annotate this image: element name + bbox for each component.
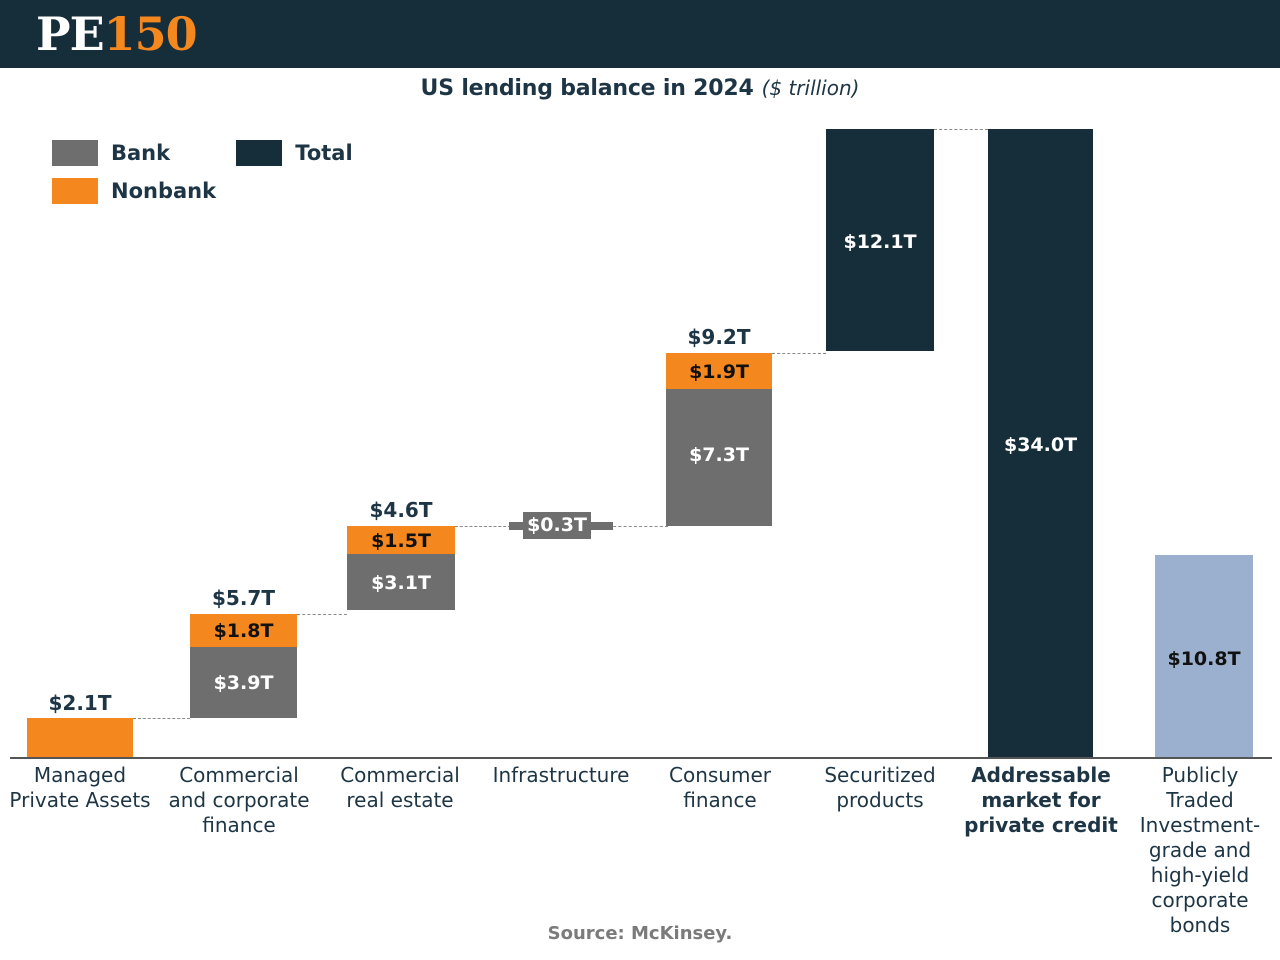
segment-total: $34.0T	[988, 129, 1093, 757]
segment-value-label-public: $10.8T	[1155, 648, 1253, 670]
x-label-line: finance	[640, 788, 800, 813]
bar-commercial-corporate-finance[interactable]: $1.8T $3.9T	[190, 614, 297, 718]
x-axis-label-securitized-products: Securitized products	[800, 763, 960, 813]
bar-total-label-commercial-real-estate: $4.6T	[347, 498, 455, 522]
bar-total-label-consumer-finance: $9.2T	[666, 325, 772, 349]
x-label-line: private credit	[961, 813, 1121, 838]
connector-2-3	[297, 614, 347, 615]
segment-bank: $7.3T	[666, 389, 772, 526]
bar-infrastructure-value-chip: $0.3T	[523, 512, 591, 539]
x-label-line: Investment-	[1124, 813, 1276, 838]
connector-3-4	[455, 526, 511, 527]
segment-value-label-infrastructure: $0.3T	[523, 512, 591, 539]
segment-total: $12.1T	[826, 129, 934, 351]
x-axis-label-publicly-traded-bonds: Publicly Traded Investment- grade and hi…	[1124, 763, 1276, 938]
x-label-line: market for	[961, 788, 1121, 813]
waterfall-chart-plot-area: $2.1T $1.8T $3.9T $5.7T $1.5T $3.1T $4.6…	[0, 0, 1280, 960]
segment-bank: $3.9T	[190, 647, 297, 718]
segment-value-label-nonbank: $1.9T	[666, 361, 772, 383]
x-label-line: products	[800, 788, 960, 813]
x-label-line: grade and	[1124, 838, 1276, 863]
bar-commercial-real-estate[interactable]: $1.5T $3.1T	[347, 526, 455, 610]
bar-addressable-market-private-credit[interactable]: $34.0T	[988, 129, 1093, 757]
segment-nonbank: $1.9T	[666, 353, 772, 389]
x-axis-label-addressable-market: Addressable market for private credit	[961, 763, 1121, 838]
segment-nonbank: $1.8T	[190, 614, 297, 647]
x-label-line: Securitized	[800, 763, 960, 788]
segment-value-label-total: $34.0T	[988, 434, 1093, 456]
segment-value-label-bank: $3.1T	[347, 572, 455, 594]
x-label-line: Commercial	[320, 763, 480, 788]
chart-source-note: Source: McKinsey.	[0, 923, 1280, 944]
x-label-line: corporate	[1124, 888, 1276, 913]
x-label-line: Consumer	[640, 763, 800, 788]
x-label-line: finance	[160, 813, 318, 838]
segment-value-label-total: $12.1T	[826, 231, 934, 253]
segment-value-label-bank: $7.3T	[666, 444, 772, 466]
segment-public-bonds: $10.8T	[1155, 555, 1253, 757]
segment-bank: $3.1T	[347, 554, 455, 610]
x-label-line: Managed	[0, 763, 160, 788]
connector-5-6	[772, 353, 826, 354]
x-axis-label-consumer-finance: Consumer finance	[640, 763, 800, 813]
bar-total-label-managed-private-assets: $2.1T	[27, 691, 133, 715]
x-label-line: Publicly	[1124, 763, 1276, 788]
x-axis-label-commercial-real-estate: Commercial real estate	[320, 763, 480, 813]
x-label-line: Traded	[1124, 788, 1276, 813]
connector-4-5	[608, 526, 668, 527]
segment-nonbank: $1.5T	[347, 526, 455, 554]
x-label-line: Infrastructure	[481, 763, 641, 788]
bar-consumer-finance[interactable]: $1.9T $7.3T	[666, 353, 772, 526]
x-label-line: Commercial	[160, 763, 318, 788]
x-label-line: and corporate	[160, 788, 318, 813]
bar-securitized-products[interactable]: $12.1T	[826, 129, 934, 351]
connector-6-7	[934, 129, 988, 130]
x-axis-label-infrastructure: Infrastructure	[481, 763, 641, 788]
segment-nonbank	[27, 718, 133, 757]
segment-value-label-nonbank: $1.8T	[190, 620, 297, 642]
bar-publicly-traded-bonds[interactable]: $10.8T	[1155, 555, 1253, 757]
x-axis-label-commercial-corporate-finance: Commercial and corporate finance	[160, 763, 318, 838]
segment-value-label-bank: $3.9T	[190, 672, 297, 694]
bar-managed-private-assets[interactable]	[27, 718, 133, 757]
x-label-line: high-yield	[1124, 863, 1276, 888]
segment-value-label-nonbank: $1.5T	[347, 530, 455, 552]
bar-total-label-commercial-corporate-finance: $5.7T	[190, 586, 297, 610]
x-axis-label-managed-private-assets: Managed Private Assets	[0, 763, 160, 813]
x-label-line: Private Assets	[0, 788, 160, 813]
connector-1-2	[133, 718, 190, 719]
x-label-line: real estate	[320, 788, 480, 813]
x-label-line: Addressable	[961, 763, 1121, 788]
x-axis-line	[10, 757, 1272, 759]
